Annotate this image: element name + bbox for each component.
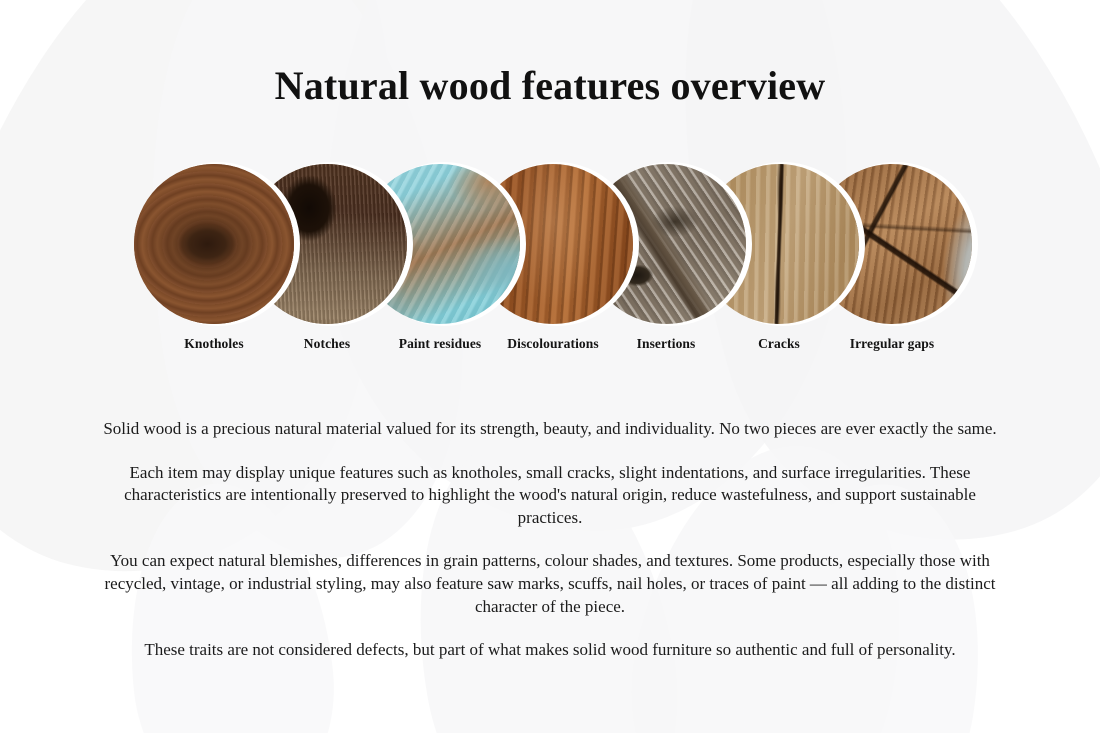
feature-image-knot — [134, 164, 294, 324]
body-copy: Solid wood is a precious natural materia… — [90, 418, 1010, 662]
feature-label: Notches — [304, 336, 350, 352]
page-title: Natural wood features overview — [0, 62, 1100, 109]
feature-label: Insertions — [637, 336, 696, 352]
feature-label: Discolourations — [507, 336, 599, 352]
feature-label: Cracks — [758, 336, 800, 352]
feature-label: Knotholes — [184, 336, 243, 352]
wood-texture-knot — [134, 164, 294, 324]
feature-label: Irregular gaps — [850, 336, 935, 352]
body-paragraph-3: You can expect natural blemishes, differ… — [90, 550, 1010, 618]
body-paragraph-2: Each item may display unique features su… — [90, 462, 1010, 530]
feature-circle-strip: KnotholesNotchesPaint residuesDiscoloura… — [134, 164, 974, 324]
feature-label: Paint residues — [399, 336, 482, 352]
feature-item-knotholes[interactable]: Knotholes — [134, 164, 294, 324]
body-paragraph-1: Solid wood is a precious natural materia… — [90, 418, 1010, 441]
body-paragraph-4: These traits are not considered defects,… — [90, 639, 1010, 662]
page-root: Natural wood features overview Knotholes… — [0, 0, 1100, 733]
